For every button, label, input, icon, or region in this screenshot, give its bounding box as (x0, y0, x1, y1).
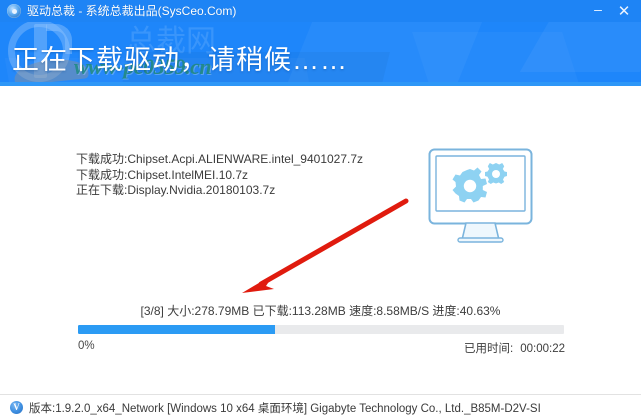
progress-bar (78, 325, 564, 334)
title-bar[interactable]: 驱动总裁 - 系统总裁出品(SysCeo.Com) – ✕ (0, 0, 641, 22)
close-button[interactable]: ✕ (611, 0, 637, 22)
log-line: 正在下载:Display.Nvidia.20180103.7z (76, 183, 363, 199)
version-badge-icon: V (10, 401, 23, 414)
banner-headline: 正在下载驱动，请稍候…… (12, 38, 348, 77)
main-content: 下载成功:Chipset.Acpi.ALIENWARE.intel_940102… (0, 86, 641, 386)
progress-bar-fill (78, 325, 275, 334)
log-line: 下载成功:Chipset.IntelMEI.10.7z (76, 168, 363, 184)
log-line: 下载成功:Chipset.Acpi.ALIENWARE.intel_940102… (76, 152, 363, 168)
footer-bar: V 版本:1.9.2.0_x64_Network [Windows 10 x64… (0, 395, 641, 420)
red-arrow-annotation (230, 196, 420, 296)
window-title: 驱动总裁 - 系统总裁出品(SysCeo.Com) (27, 0, 236, 22)
driver-downloader-window: 驱动总裁 - 系统总裁出品(SysCeo.Com) – ✕ 总裁网 www-pc… (0, 0, 641, 420)
progress-left-label: 0% (78, 340, 95, 352)
elapsed-time-label: 已用时间: (464, 343, 513, 355)
banner-facet-4 (520, 22, 641, 72)
footer-version-text: 版本:1.9.2.0_x64_Network [Windows 10 x64 桌… (29, 400, 541, 416)
driver-disc-icon (6, 3, 22, 19)
download-status-line: [3/8] 大小:278.79MB 已下载:113.28MB 速度:8.58MB… (0, 302, 641, 319)
monitor-gears-illustration (428, 148, 540, 248)
header-banner: 总裁网 www-pc0359.cn 正在下载驱动，请稍候…… (0, 22, 641, 86)
minimize-button[interactable]: – (585, 0, 611, 24)
elapsed-time: 已用时间:00:00:22 (464, 340, 565, 356)
elapsed-time-value: 00:00:22 (520, 343, 565, 355)
download-log-list: 下载成功:Chipset.Acpi.ALIENWARE.intel_940102… (76, 152, 363, 199)
